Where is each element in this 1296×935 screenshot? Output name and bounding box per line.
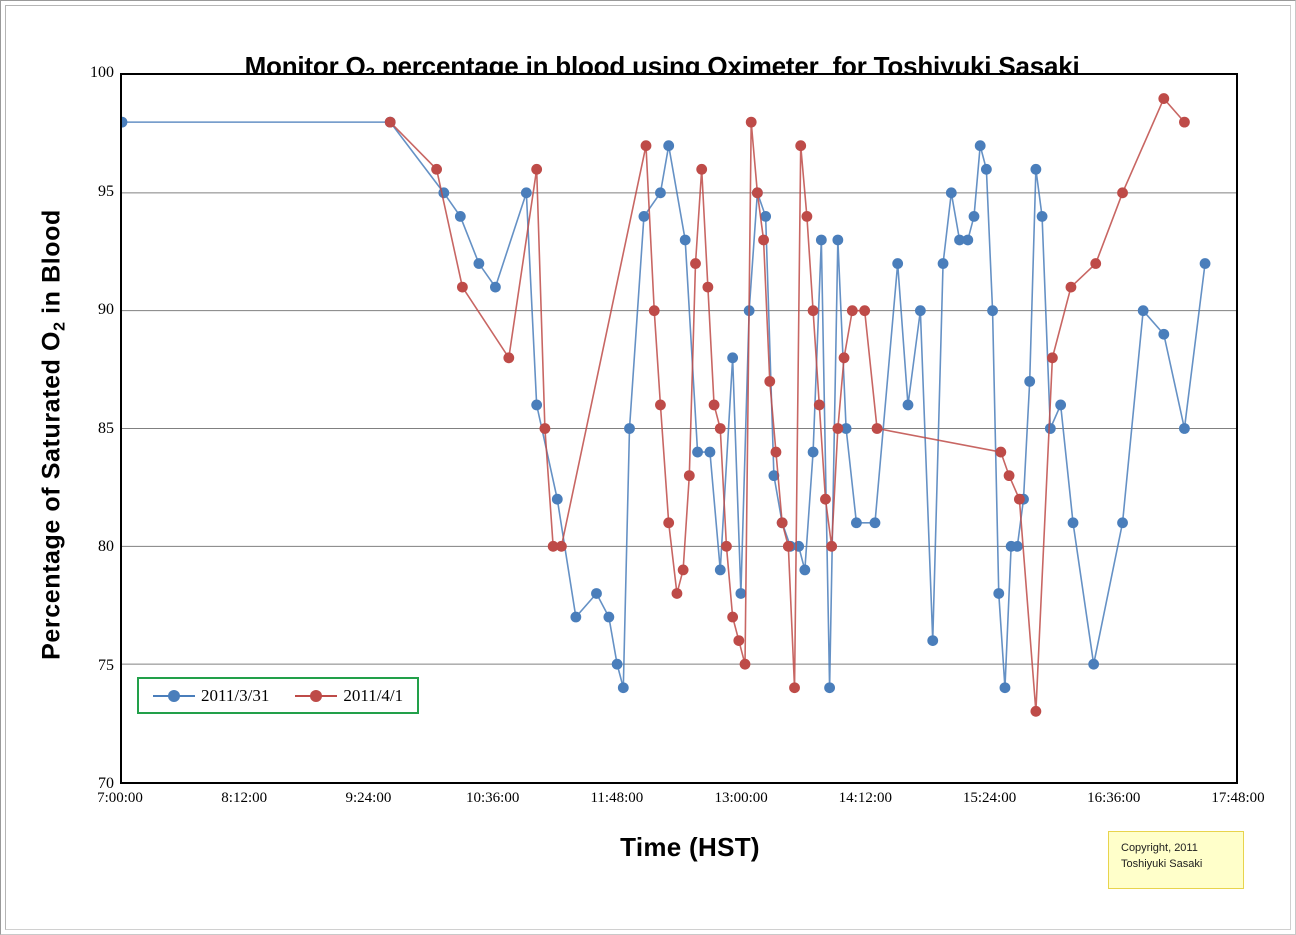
legend-label: 2011/3/31 (201, 686, 269, 706)
legend[interactable]: 2011/3/312011/4/1 (137, 677, 419, 714)
data-point (752, 187, 763, 198)
data-point (455, 211, 466, 222)
data-point (715, 565, 726, 576)
y-tick-label: 100 (68, 64, 114, 82)
x-axis-tick-labels: 7:00:008:12:009:24:0010:36:0011:48:0013:… (120, 790, 1238, 816)
chart-screenshot: Monitor O2 percentage in blood using Oxi… (0, 0, 1296, 935)
x-tick-label: 15:24:00 (963, 790, 1016, 807)
data-point (1055, 400, 1066, 411)
data-point (1014, 494, 1025, 505)
data-point (490, 282, 501, 293)
data-point (1012, 541, 1023, 552)
data-point (962, 235, 973, 246)
data-point (540, 423, 551, 434)
data-point (1045, 423, 1056, 434)
data-point (438, 187, 449, 198)
y-tick-label: 95 (68, 183, 114, 201)
data-point (721, 541, 732, 552)
data-point (927, 635, 938, 646)
data-point (663, 140, 674, 151)
copyright-line-2: Toshiyuki Sasaki (1121, 856, 1243, 872)
data-point (1090, 258, 1101, 269)
data-point (702, 282, 713, 293)
data-point (1068, 517, 1079, 528)
data-point (1158, 329, 1169, 340)
data-point (1047, 352, 1058, 363)
x-tick-label: 14:12:00 (839, 790, 892, 807)
x-tick-label: 16:36:00 (1087, 790, 1140, 807)
data-point (859, 305, 870, 316)
data-point (503, 352, 514, 363)
data-point (839, 352, 850, 363)
x-tick-label: 13:00:00 (714, 790, 767, 807)
data-series-layer (122, 75, 1236, 782)
data-point (975, 140, 986, 151)
data-point (531, 164, 542, 175)
data-point (727, 612, 738, 623)
data-point (727, 352, 738, 363)
data-point (603, 612, 614, 623)
y-axis-tick-labels: 707580859095100 (58, 73, 114, 784)
data-point (709, 400, 720, 411)
data-point (783, 541, 794, 552)
data-point (892, 258, 903, 269)
data-point (981, 164, 992, 175)
data-point (1200, 258, 1211, 269)
y-tick-label: 75 (68, 657, 114, 675)
data-point (692, 447, 703, 458)
data-point (993, 588, 1004, 599)
data-point (832, 235, 843, 246)
data-point (903, 400, 914, 411)
data-point (1117, 517, 1128, 528)
data-point (678, 565, 689, 576)
data-point (872, 423, 883, 434)
data-point (1117, 187, 1128, 198)
data-point (820, 494, 831, 505)
data-point (1179, 423, 1190, 434)
data-point (591, 588, 602, 599)
data-point (641, 140, 652, 151)
data-point (531, 400, 542, 411)
x-tick-label: 8:12:00 (221, 790, 267, 807)
data-point (802, 211, 813, 222)
x-tick-label: 10:36:00 (466, 790, 519, 807)
data-point (680, 235, 691, 246)
data-point (457, 282, 468, 293)
data-point (672, 588, 683, 599)
data-point (556, 541, 567, 552)
legend-marker-icon (295, 690, 337, 702)
legend-label: 2011/4/1 (343, 686, 403, 706)
data-point (799, 565, 810, 576)
data-point (1158, 93, 1169, 104)
data-series-2 (385, 93, 1190, 717)
data-point (663, 517, 674, 528)
data-point (758, 235, 769, 246)
data-point (764, 376, 775, 387)
data-point (639, 211, 650, 222)
data-point (655, 187, 666, 198)
data-point (1030, 164, 1041, 175)
data-point (696, 164, 707, 175)
data-point (1138, 305, 1149, 316)
data-point (832, 423, 843, 434)
data-point (814, 400, 825, 411)
data-point (1024, 376, 1035, 387)
data-point (847, 305, 858, 316)
data-point (473, 258, 484, 269)
data-point (789, 682, 800, 693)
legend-entry-1[interactable]: 2011/3/31 (153, 686, 269, 706)
data-point (824, 682, 835, 693)
data-point (122, 117, 127, 128)
legend-marker-icon (153, 690, 195, 702)
y-tick-label: 85 (68, 420, 114, 438)
data-point (851, 517, 862, 528)
data-point (808, 447, 819, 458)
data-point (946, 187, 957, 198)
data-point (760, 211, 771, 222)
data-point (1037, 211, 1048, 222)
data-point (995, 447, 1006, 458)
legend-entry-2[interactable]: 2011/4/1 (295, 686, 403, 706)
data-point (690, 258, 701, 269)
data-point (740, 659, 751, 670)
data-point (649, 305, 660, 316)
data-point (612, 659, 623, 670)
data-point (987, 305, 998, 316)
data-point (385, 117, 396, 128)
x-tick-label: 7:00:00 (97, 790, 143, 807)
data-point (1030, 706, 1041, 717)
data-point (777, 517, 788, 528)
data-point (624, 423, 635, 434)
data-point (431, 164, 442, 175)
data-point (793, 541, 804, 552)
data-point (655, 400, 666, 411)
data-point (521, 187, 532, 198)
data-point (826, 541, 837, 552)
data-point (816, 235, 827, 246)
data-point (715, 423, 726, 434)
data-point (733, 635, 744, 646)
x-axis-title: Time (HST) (480, 832, 900, 863)
data-point (1066, 282, 1077, 293)
data-point (771, 447, 782, 458)
data-point (1000, 682, 1011, 693)
data-point (795, 140, 806, 151)
y-tick-label: 80 (68, 538, 114, 556)
data-point (746, 117, 757, 128)
x-tick-label: 9:24:00 (346, 790, 392, 807)
data-point (1088, 659, 1099, 670)
data-series-1 (122, 117, 1210, 693)
data-point (618, 682, 629, 693)
x-tick-label: 17:48:00 (1211, 790, 1264, 807)
data-point (915, 305, 926, 316)
data-point (552, 494, 563, 505)
data-point (684, 470, 695, 481)
data-point (705, 447, 716, 458)
data-point (1179, 117, 1190, 128)
data-point (735, 588, 746, 599)
copyright-notice: Copyright, 2011 Toshiyuki Sasaki (1108, 831, 1244, 889)
data-point (969, 211, 980, 222)
data-point (1004, 470, 1015, 481)
y-tick-label: 90 (68, 301, 114, 319)
data-point (808, 305, 819, 316)
data-point (938, 258, 949, 269)
data-point (870, 517, 881, 528)
copyright-line-1: Copyright, 2011 (1121, 840, 1243, 856)
x-tick-label: 11:48:00 (590, 790, 643, 807)
data-point (570, 612, 581, 623)
